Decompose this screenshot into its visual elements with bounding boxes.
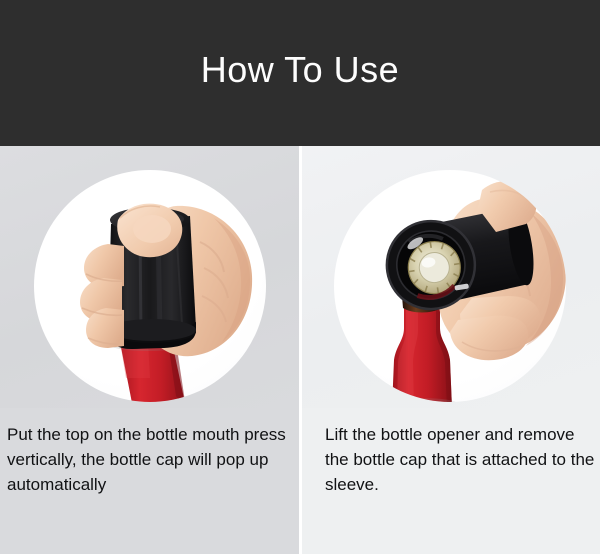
how-to-use-infographic: How To Use — [0, 0, 600, 554]
hand-fingers — [80, 244, 124, 348]
hand-lifting-opener-illustration — [300, 146, 600, 408]
hand-pressing-opener-illustration — [0, 146, 300, 408]
step-2-caption: Lift the bottle opener and remove the bo… — [325, 422, 595, 497]
step-panel-2: Lift the bottle opener and remove the bo… — [300, 146, 600, 554]
step-panel-1: Put the top on the bottle mouth press ve… — [0, 146, 300, 554]
step-2-photo — [300, 146, 600, 408]
thumb-nail — [133, 215, 171, 243]
step-1-caption: Put the top on the bottle mouth press ve… — [7, 422, 299, 497]
panel-divider — [299, 146, 302, 554]
page-title: How To Use — [201, 52, 399, 94]
step-1-photo — [0, 146, 300, 408]
header-banner: How To Use — [0, 0, 600, 146]
